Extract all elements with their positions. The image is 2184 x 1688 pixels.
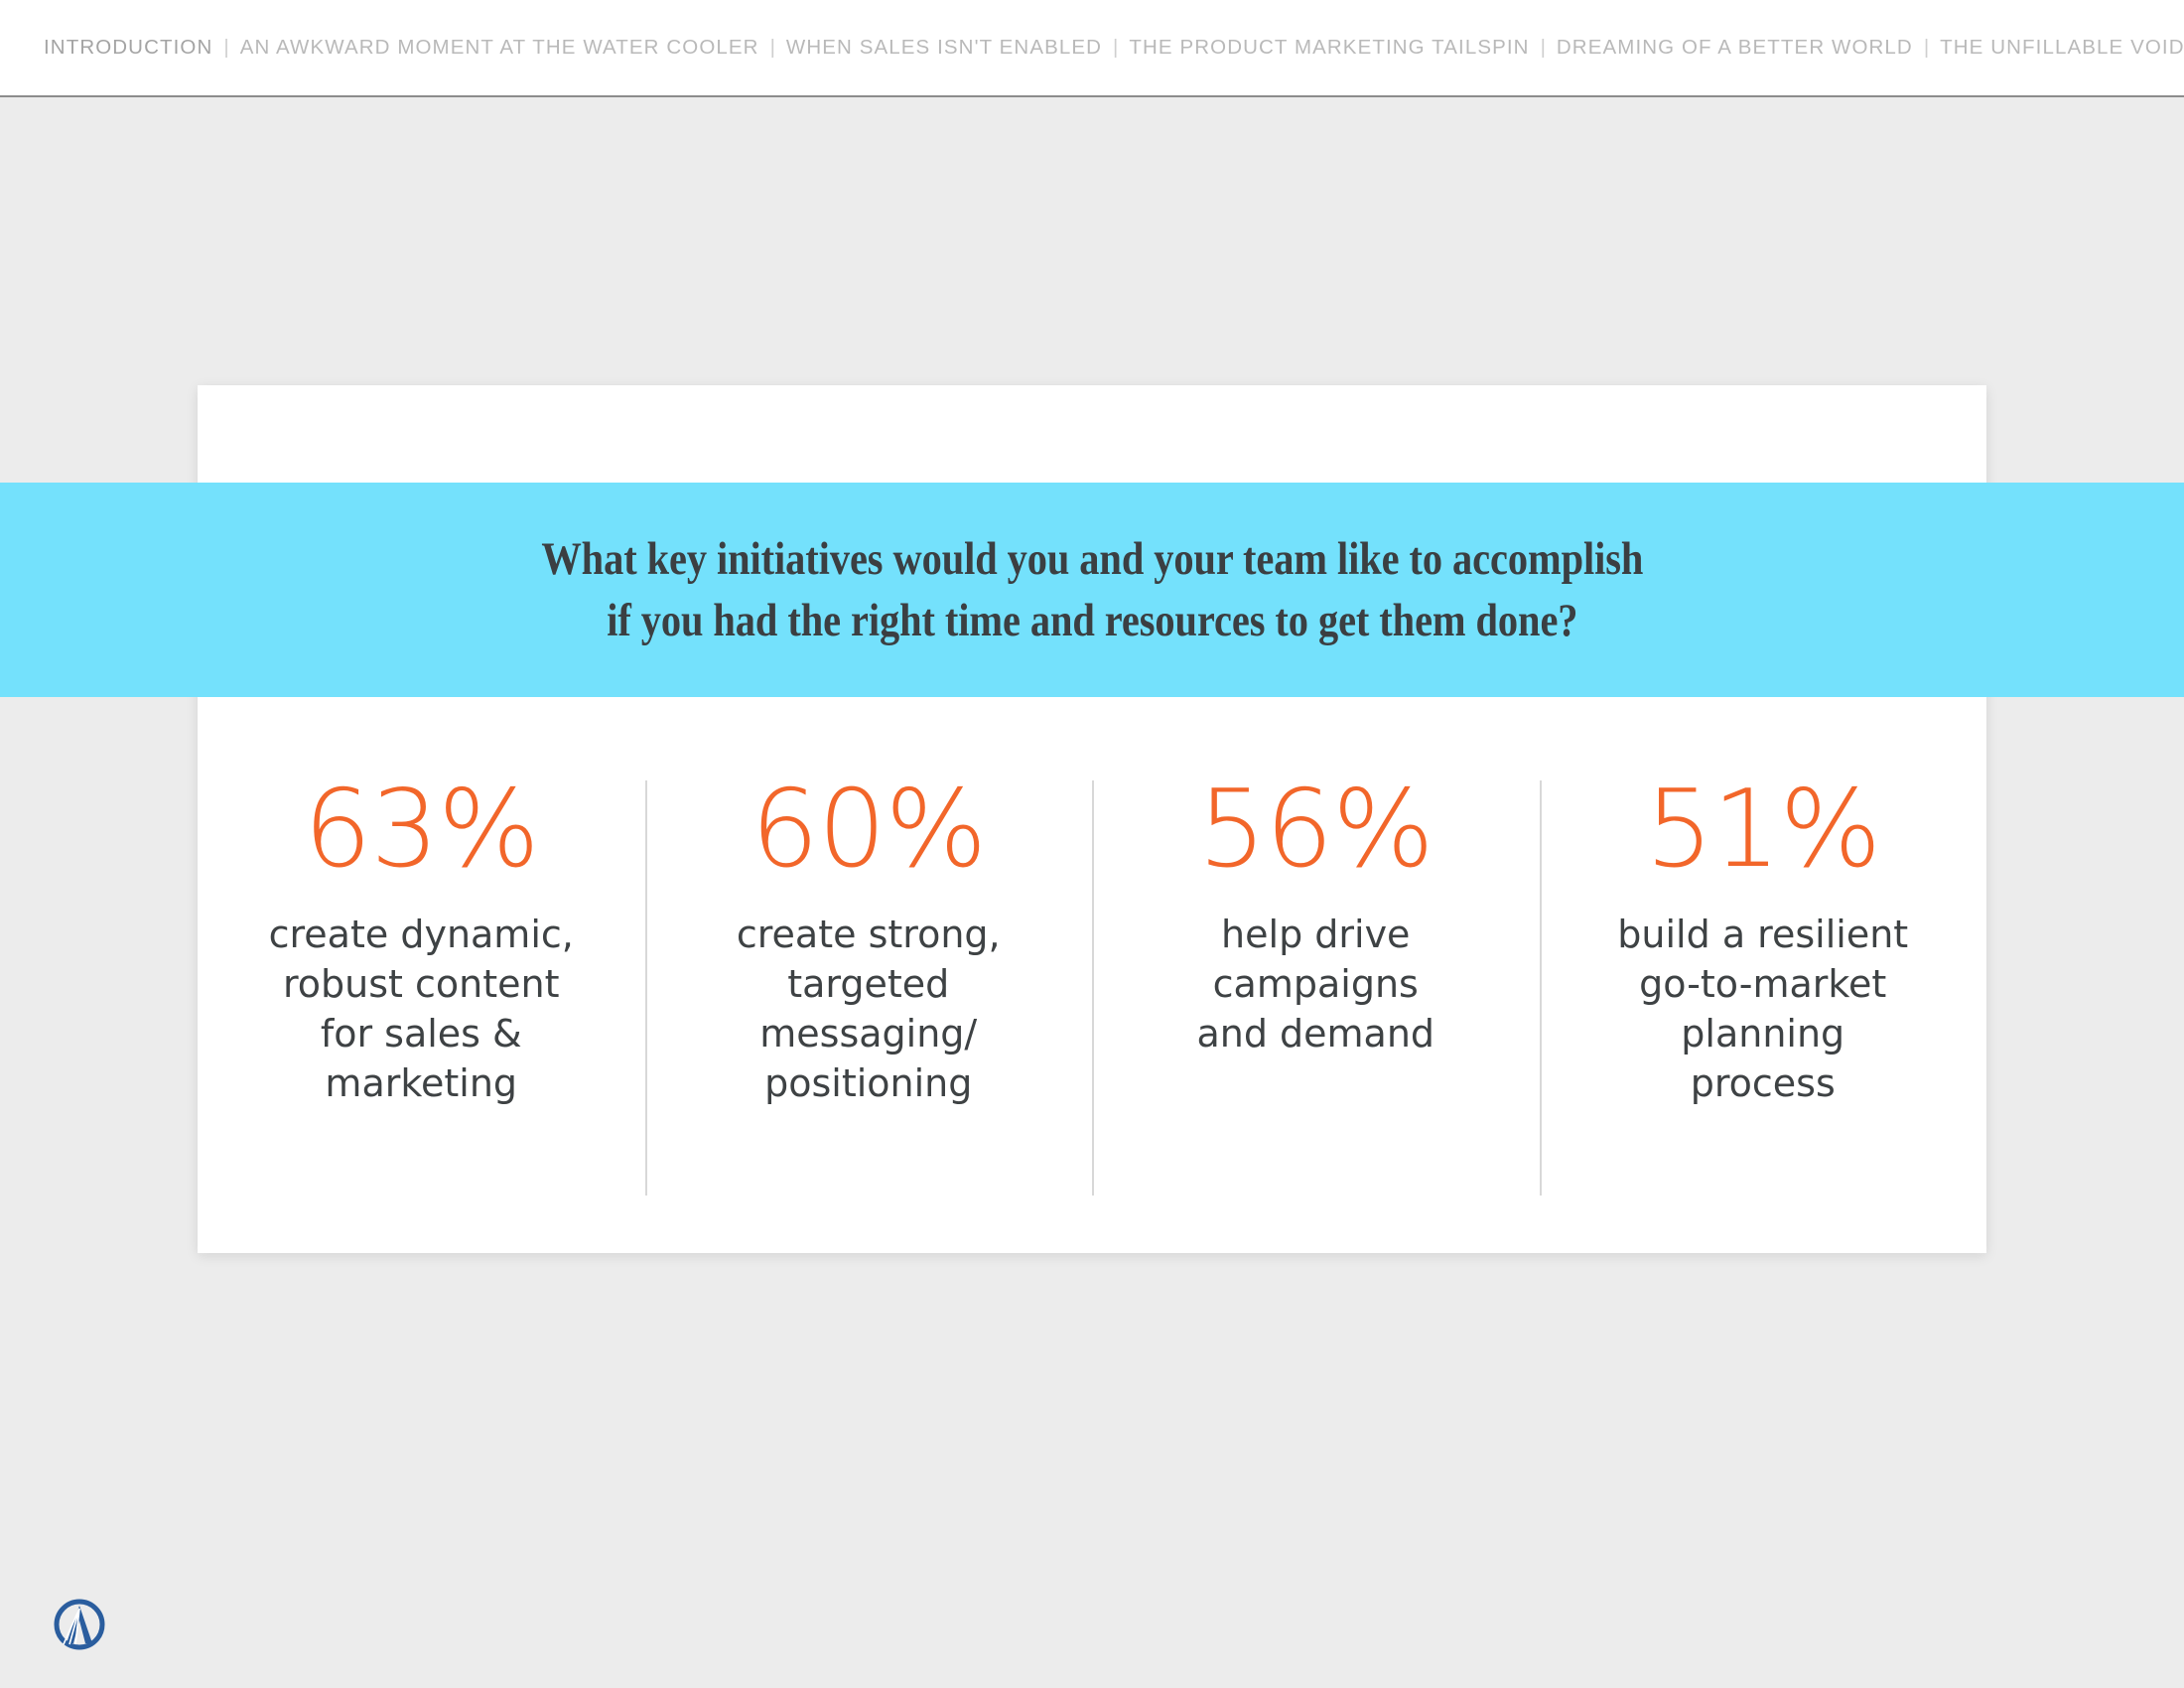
stat-value: 51% bbox=[1645, 776, 1880, 884]
chapter-separator: | bbox=[759, 38, 786, 59]
chapter-link[interactable]: WHEN SALES ISN'T ENABLED bbox=[786, 38, 1102, 59]
stat-value: 56% bbox=[1198, 776, 1433, 884]
stat-value: 60% bbox=[751, 776, 986, 884]
headline-line-1: What key initiatives would you and your … bbox=[541, 528, 1643, 591]
chapter-link[interactable]: DREAMING OF A BETTER WORLD bbox=[1557, 38, 1913, 59]
stat-label: create strong, targeted messaging/ posit… bbox=[737, 910, 1001, 1109]
stats-row: 63% create dynamic, robust content for s… bbox=[198, 774, 1986, 1201]
stat-label: create dynamic, robust content for sales… bbox=[269, 910, 574, 1109]
chapter-link[interactable]: AN AWKWARD MOMENT AT THE WATER COOLER bbox=[240, 38, 759, 59]
headline: What key initiatives would you and your … bbox=[541, 528, 1643, 652]
headline-line-2: if you had the right time and resources … bbox=[541, 590, 1643, 652]
company-logo bbox=[52, 1597, 107, 1652]
top-navigation-bar: INTRODUCTION|AN AWKWARD MOMENT AT THE WA… bbox=[0, 0, 2184, 97]
stat-value: 63% bbox=[304, 776, 539, 884]
chapter-link[interactable]: THE UNFILLABLE VOID bbox=[1940, 38, 2184, 59]
chapter-separator: | bbox=[212, 38, 239, 59]
chapter-nav-list: INTRODUCTION|AN AWKWARD MOMENT AT THE WA… bbox=[44, 38, 2184, 59]
chapter-separator: | bbox=[1530, 38, 1557, 59]
stat-label: help drive campaigns and demand bbox=[1196, 910, 1434, 1058]
chapter-link[interactable]: INTRODUCTION bbox=[44, 38, 212, 59]
stat-column: 63% create dynamic, robust content for s… bbox=[198, 774, 645, 1201]
stat-column: 51% build a resilient go-to-market plann… bbox=[1540, 774, 1987, 1201]
chapter-link[interactable]: THE PRODUCT MARKETING TAILSPIN bbox=[1129, 38, 1529, 59]
stat-column: 56% help drive campaigns and demand bbox=[1092, 774, 1540, 1201]
stat-column: 60% create strong, targeted messaging/ p… bbox=[645, 774, 1093, 1201]
chapter-separator: | bbox=[1102, 38, 1129, 59]
headline-band: What key initiatives would you and your … bbox=[0, 483, 2184, 697]
stat-label: build a resilient go-to-market planning … bbox=[1617, 910, 1908, 1109]
chapter-separator: | bbox=[1913, 38, 1940, 59]
